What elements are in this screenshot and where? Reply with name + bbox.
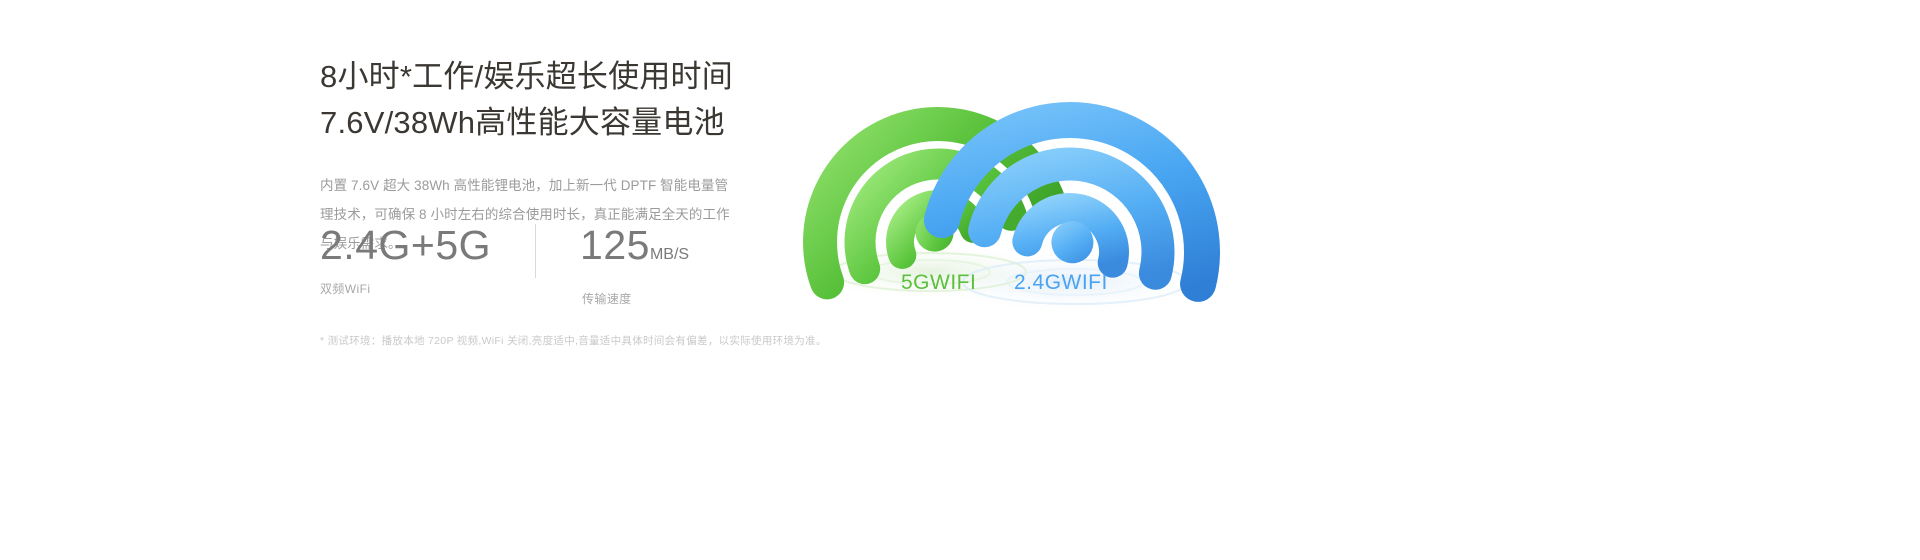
stat-dual-band: 2.4G+5G 双频WiFi <box>320 222 491 297</box>
stat-divider <box>535 224 536 278</box>
promo-banner: 8小时*工作/娱乐超长使用时间 7.6V/38Wh高性能大容量电池 内置 7.6… <box>0 0 1920 560</box>
stat-number-transfer-speed: 125 <box>580 222 650 268</box>
page-title: 8小时*工作/娱乐超长使用时间 7.6V/38Wh高性能大容量电池 <box>320 54 790 146</box>
description-line-1: 内置 7.6V 超大 38Wh 高性能锂电池，加上新一代 DPTF 智能电量管 <box>320 171 770 200</box>
stat-label-transfer-speed: 传输速度 <box>580 290 689 307</box>
stat-transfer-speed: 125MB/S 传输速度 <box>580 222 689 307</box>
stat-value-dual-band: 2.4G+5G <box>320 222 491 268</box>
label-5g-wifi: 5GWIFI <box>901 271 976 295</box>
spec-stats-row: 2.4G+5G 双频WiFi 125MB/S 传输速度 <box>320 222 689 307</box>
headline-line-1: 8小时*工作/娱乐超长使用时间 <box>320 54 790 100</box>
footnote-disclaimer: * 测试环境：播放本地 720P 视频,WiFi 关闭,亮度适中,音量适中具体时… <box>320 333 827 348</box>
headline-line-2: 7.6V/38Wh高性能大容量电池 <box>320 100 790 146</box>
stat-value-transfer-speed: 125MB/S <box>580 222 689 278</box>
stat-label-dual-band: 双频WiFi <box>320 280 491 297</box>
artwork-labels: 5GWIFI 2.4GWIFI <box>770 265 1240 297</box>
stat-unit-transfer-speed: MB/S <box>650 246 689 263</box>
label-24g-wifi: 2.4GWIFI <box>1014 271 1108 295</box>
